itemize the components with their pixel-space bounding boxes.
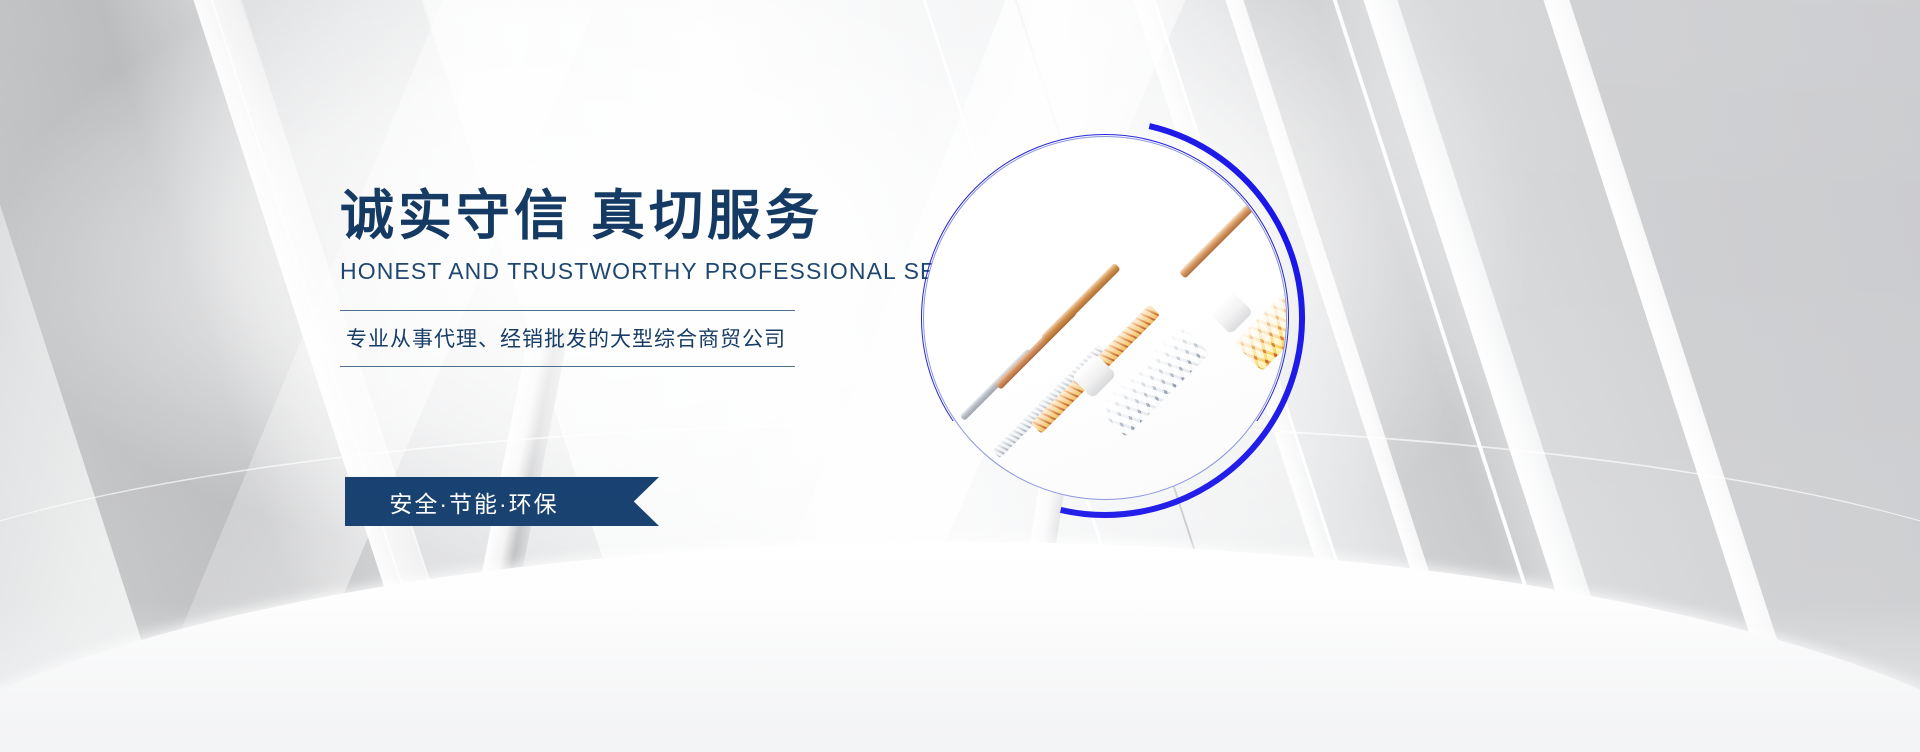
tagline-divider-top (340, 310, 795, 311)
product-image-circle: COAXIAL (905, 118, 1305, 518)
feature-ribbon: 安全·节能·环保 (345, 477, 603, 526)
banner-tagline-group: 专业从事代理、经销批发的大型综合商贸公司 (340, 310, 795, 367)
tagline-divider-bottom (340, 366, 795, 367)
hero-banner: 诚实守信 真切服务 HONEST AND TRUSTWORTHY PROFESS… (0, 0, 1920, 752)
feature-ribbon-label: 安全·节能·环保 (389, 485, 558, 519)
banner-subheadline: HONEST AND TRUSTWORTHY PROFESSIONAL SERV… (340, 258, 900, 285)
background-floor-shadow (0, 602, 1920, 752)
banner-tagline: 专业从事代理、经销批发的大型综合商贸公司 (340, 311, 795, 366)
banner-headline: 诚实守信 真切服务 (340, 186, 900, 246)
decorative-ring-thick (829, 42, 1380, 593)
banner-text-block: 诚实守信 真切服务 HONEST AND TRUSTWORTHY PROFESS… (340, 186, 900, 367)
